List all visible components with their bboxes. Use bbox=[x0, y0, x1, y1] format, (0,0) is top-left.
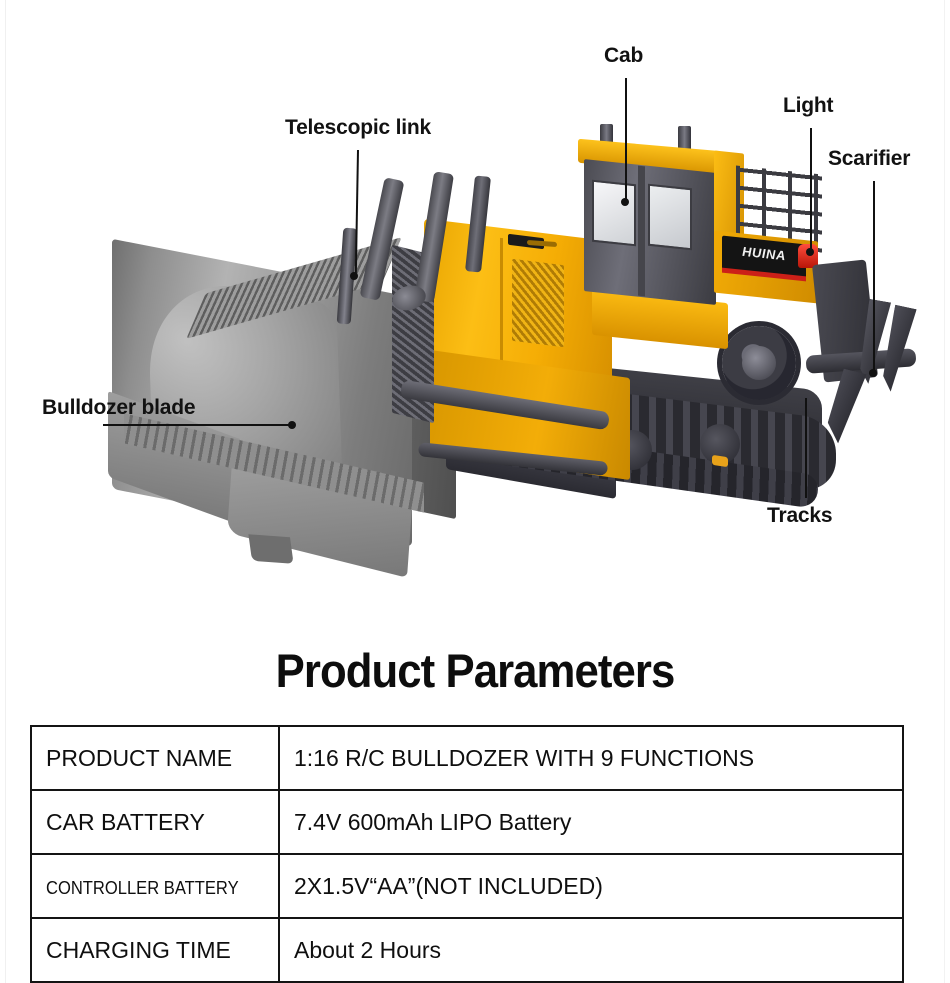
product-hero-image: HUINA Telescopic link Cab Light bbox=[0, 0, 950, 620]
param-value-cell: 2X1.5V“AA”(NOT INCLUDED) bbox=[279, 854, 903, 918]
table-row: PRODUCT NAME 1:16 R/C BULLDOZER WITH 9 F… bbox=[31, 726, 903, 790]
amber-marker-light bbox=[712, 455, 728, 467]
callout-leader-cab bbox=[625, 78, 627, 202]
product-parameters-table: PRODUCT NAME 1:16 R/C BULLDOZER WITH 9 F… bbox=[30, 725, 904, 983]
callout-label-bulldozer-blade: Bulldozer blade bbox=[42, 397, 195, 418]
callout-label-telescopic-link: Telescopic link bbox=[285, 117, 431, 138]
callout-leader-tracks bbox=[805, 398, 807, 498]
table-row: CAR BATTERY 7.4V 600mAh LIPO Battery bbox=[31, 790, 903, 854]
param-value-cell: About 2 Hours bbox=[279, 918, 903, 982]
param-value-cell: 1:16 R/C BULLDOZER WITH 9 FUNCTIONS bbox=[279, 726, 903, 790]
callout-dot-telescopic-link bbox=[350, 272, 358, 280]
callout-label-cab: Cab bbox=[604, 45, 643, 66]
callout-label-scarifier: Scarifier bbox=[828, 148, 910, 169]
table-row: CHARGING TIME About 2 Hours bbox=[31, 918, 903, 982]
param-label-cell: PRODUCT NAME bbox=[31, 726, 279, 790]
callout-dot-cab bbox=[621, 198, 629, 206]
callout-leader-scarifier bbox=[873, 181, 875, 373]
product-parameters-section: Product Parameters PRODUCT NAME 1:16 R/C… bbox=[0, 620, 950, 983]
param-label-text: CONTROLLER BATTERY bbox=[46, 878, 239, 899]
callout-leader-bulldozer-blade bbox=[103, 424, 293, 426]
param-label-text: CHARGING TIME bbox=[46, 937, 231, 964]
callout-dot-scarifier bbox=[869, 369, 877, 377]
blade-foot bbox=[248, 534, 293, 564]
callout-label-light: Light bbox=[783, 95, 833, 116]
table-row: CONTROLLER BATTERY 2X1.5V“AA”(NOT INCLUD… bbox=[31, 854, 903, 918]
bulldozer-illustration: HUINA bbox=[0, 0, 950, 620]
param-label-cell: CAR BATTERY bbox=[31, 790, 279, 854]
cab-window-rear bbox=[648, 184, 692, 251]
cab-pillar bbox=[638, 166, 645, 297]
callout-label-tracks: Tracks bbox=[767, 505, 832, 526]
drive-sprocket-hub bbox=[742, 346, 776, 380]
param-label-cell: CONTROLLER BATTERY bbox=[31, 854, 279, 918]
cab-window-front bbox=[592, 180, 636, 247]
callout-dot-light bbox=[806, 248, 814, 256]
param-value-cell: 7.4V 600mAh LIPO Battery bbox=[279, 790, 903, 854]
callout-dot-bulldozer-blade bbox=[288, 421, 296, 429]
param-label-text: CAR BATTERY bbox=[46, 809, 205, 836]
product-detail-page: HUINA Telescopic link Cab Light bbox=[0, 0, 950, 983]
param-label-text: PRODUCT NAME bbox=[46, 745, 232, 772]
page-title: Product Parameters bbox=[33, 643, 917, 698]
radiator-grille bbox=[512, 259, 564, 347]
callout-leader-light bbox=[810, 128, 812, 252]
param-label-cell: CHARGING TIME bbox=[31, 918, 279, 982]
